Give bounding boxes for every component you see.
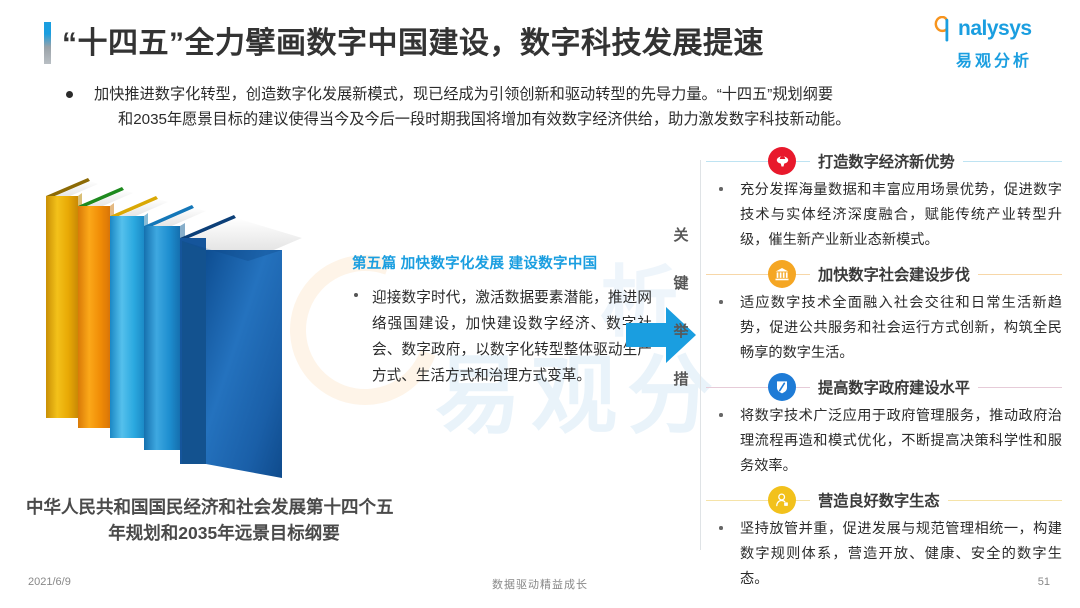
middle-heading: 第五篇 加快数字化发展 建设数字中国 — [352, 252, 652, 273]
logo-wordmark: nalysys — [958, 16, 1032, 42]
measure-title-1: 打造数字经济新优势 — [810, 150, 963, 172]
measure-text-1: 充分发挥海量数据和丰富应用场景优势，促进数字技术与实体经济深度融合，赋能传统产业… — [740, 178, 1062, 253]
measure-text-3: 将数字技术广泛应用于政府管理服务，推动政府治理流程再造和模式优化，不断提高决策科… — [740, 404, 1062, 479]
measure-body-4: 坚持放管并重，促进发展与规范管理相统一，构建数字规则体系，营造开放、健康、安全的… — [706, 515, 1062, 598]
measure-section-3: 提高数字政府建设水平 将数字技术广泛应用于政府管理服务，推动政府治理流程再造和模… — [706, 372, 1062, 485]
books-caption: 中华人民共和国国民经济和社会发展第十四个五 年规划和2035年远景目标纲要 — [26, 494, 446, 546]
measure-header-3: 提高数字政府建设水平 — [706, 372, 1062, 402]
measure-text-2: 适应数字技术全面融入社会交往和日常生活新趋势，促进公共服务和社会运行方式创新，构… — [740, 291, 1062, 366]
middle-column: 第五篇 加快数字化发展 建设数字中国 迎接数字时代，激活数据要素潜能，推进网络强… — [352, 252, 652, 389]
vertical-label-char-0: 关 — [668, 212, 694, 260]
person-icon — [768, 486, 796, 514]
books-illustration — [38, 168, 318, 488]
rocket-icon — [768, 147, 796, 175]
measure-title-3: 提高数字政府建设水平 — [810, 376, 978, 398]
title-accent-bar — [44, 22, 51, 64]
measures-panel: 打造数字经济新优势 充分发挥海量数据和丰富应用场景优势，促进数字技术与实体经济深… — [706, 146, 1062, 598]
panel-divider — [700, 160, 701, 550]
page-title: “十四五”全力擘画数字中国建设，数字科技发展提速 — [62, 18, 764, 62]
measure-header-1: 打造数字经济新优势 — [706, 146, 1062, 176]
intro-line-1: 加快推进数字化转型，创造数字化发展新模式，现已经成为引领创新和驱动转型的先导力量… — [94, 86, 833, 103]
measure-section-2: 加快数字社会建设步伐 适应数字技术全面融入社会交往和日常生活新趋势，促进公共服务… — [706, 259, 1062, 372]
middle-body-text: 迎接数字时代，激活数据要素潜能，推进网络强国建设，加快建设数字经济、数字社会、数… — [372, 285, 652, 389]
intro-line-2: 和2035年愿景目标的建议使得当今及今后一段时期我国将增加有效数字经济供给，助力… — [94, 107, 1016, 132]
measure-bullet-dot-icon-1 — [719, 187, 723, 191]
measure-section-4: 营造良好数字生态 坚持放管并重，促进发展与规范管理相统一，构建数字规则体系，营造… — [706, 485, 1062, 598]
logo-swirl-icon — [934, 16, 957, 42]
measure-body-3: 将数字技术广泛应用于政府管理服务，推动政府治理流程再造和模式优化，不断提高决策科… — [706, 402, 1062, 485]
measure-title-2: 加快数字社会建设步伐 — [810, 263, 978, 285]
vertical-label-char-3: 措 — [668, 356, 694, 404]
vertical-label-char-2: 举 — [668, 308, 694, 356]
middle-bullet-dot-icon — [354, 293, 358, 297]
measure-text-4: 坚持放管并重，促进发展与规范管理相统一，构建数字规则体系，营造开放、健康、安全的… — [740, 517, 1062, 592]
shield-icon — [768, 373, 796, 401]
measure-bullet-dot-icon-4 — [719, 526, 723, 530]
measure-header-2: 加快数字社会建设步伐 — [706, 259, 1062, 289]
books-caption-line-1: 中华人民共和国国民经济和社会发展第十四个五 — [26, 494, 446, 520]
measure-body-2: 适应数字技术全面融入社会交往和日常生活新趋势，促进公共服务和社会运行方式创新，构… — [706, 289, 1062, 372]
intro-bullet: 加快推进数字化转型，创造数字化发展新模式，现已经成为引领创新和驱动转型的先导力量… — [66, 82, 1016, 132]
books-svg — [38, 168, 318, 488]
measure-title-4: 营造良好数字生态 — [810, 489, 948, 511]
intro-text: 加快推进数字化转型，创造数字化发展新模式，现已经成为引领创新和驱动转型的先导力量… — [94, 82, 1016, 132]
measure-header-4: 营造良好数字生态 — [706, 485, 1062, 515]
measure-body-1: 充分发挥海量数据和丰富应用场景优势，促进数字技术与实体经济深度融合，赋能传统产业… — [706, 176, 1062, 259]
slide-root: 易观分 析 “十四五”全力擘画数字中国建设，数字科技发展提速 nalysys 易… — [0, 0, 1080, 608]
logo-chinese-name: 易观分析 — [934, 47, 1054, 71]
vertical-label-key-measures: 关 键 举 措 — [668, 212, 694, 404]
books-caption-line-2: 年规划和2035年远景目标纲要 — [26, 520, 446, 546]
vertical-label-char-1: 键 — [668, 260, 694, 308]
measure-bullet-dot-icon-2 — [719, 300, 723, 304]
measure-bullet-dot-icon-3 — [719, 413, 723, 417]
analysys-logo: nalysys 易观分析 — [934, 14, 1054, 72]
bank-icon — [768, 260, 796, 288]
bullet-dot-icon — [66, 91, 73, 98]
measure-section-1: 打造数字经济新优势 充分发挥海量数据和丰富应用场景优势，促进数字技术与实体经济深… — [706, 146, 1062, 259]
